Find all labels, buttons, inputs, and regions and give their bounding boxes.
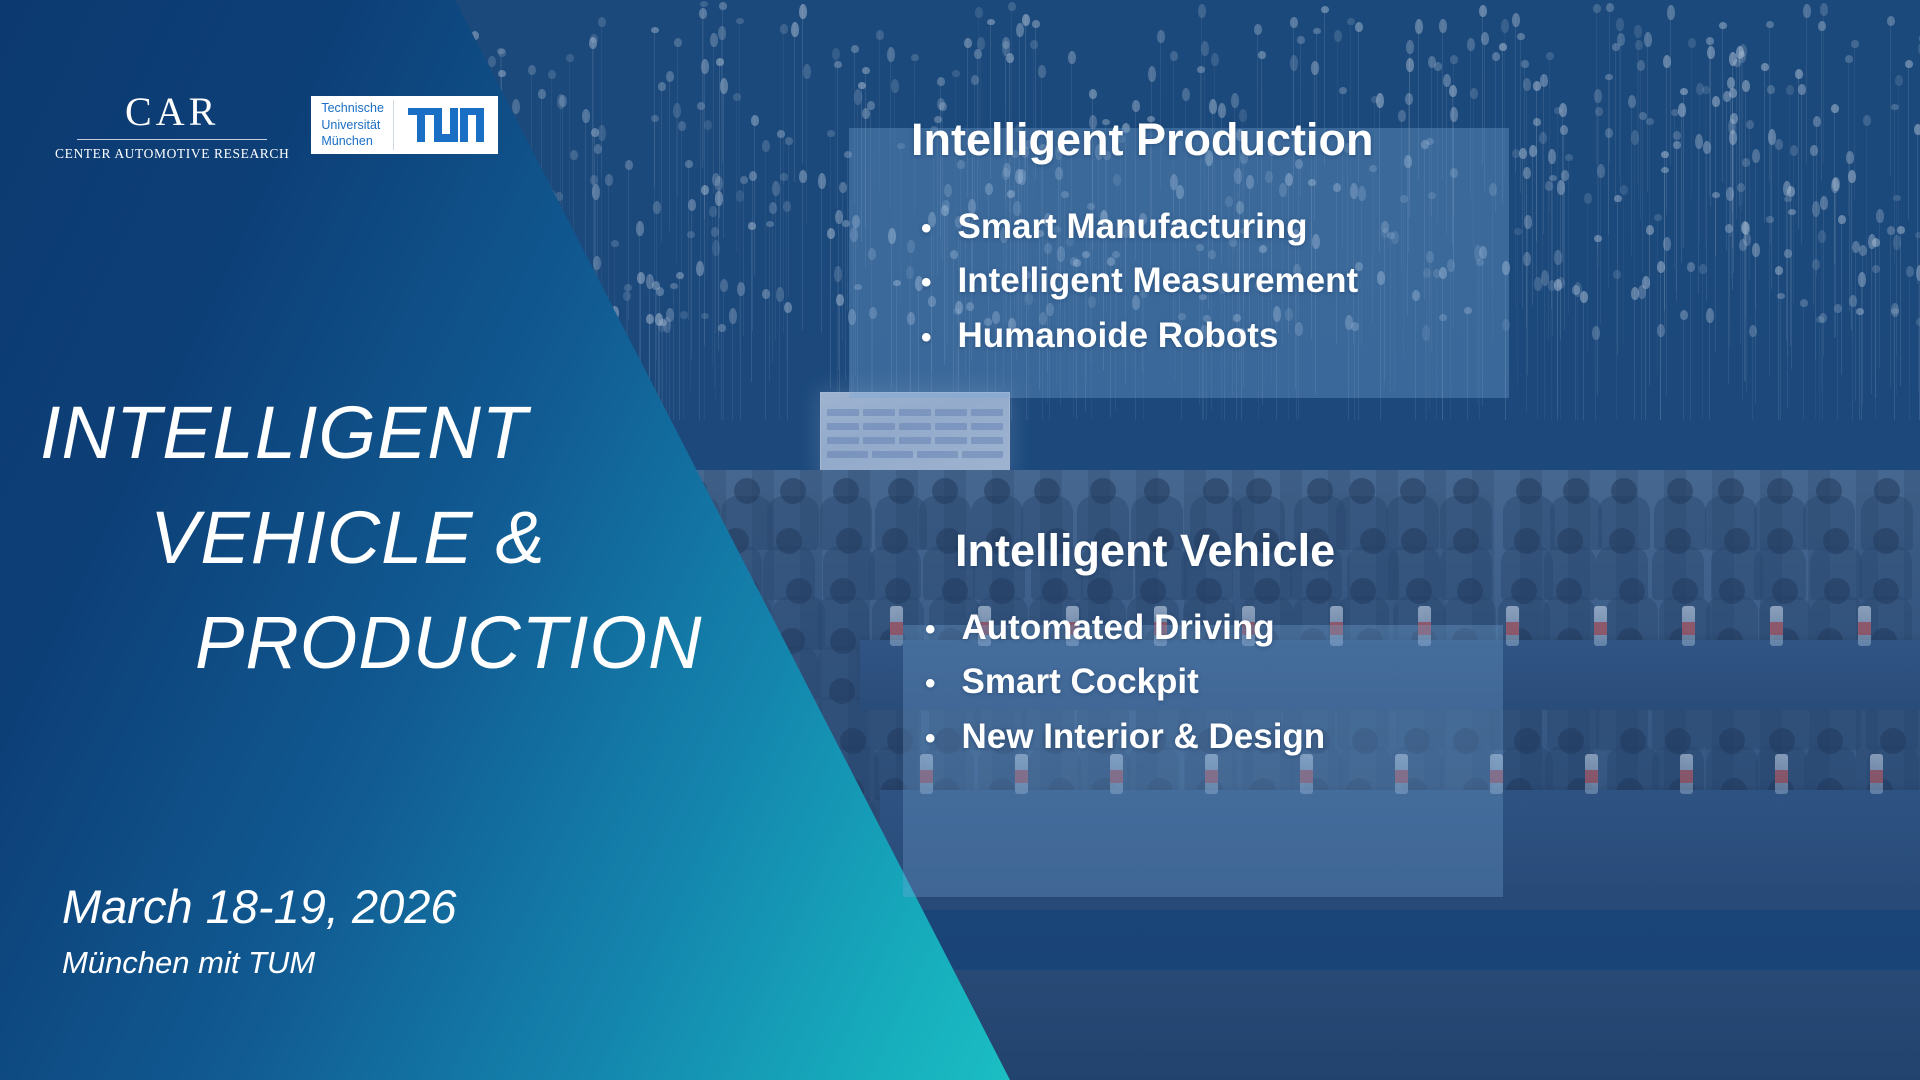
bullet-icon: • — [925, 669, 936, 699]
headline-line-2: VEHICLE & — [0, 485, 760, 590]
list-item-label: Smart Cockpit — [962, 655, 1199, 709]
tum-logo[interactable]: Technische Universität München — [311, 96, 498, 154]
bullet-icon: • — [925, 615, 936, 645]
list-item: •Humanoide Robots — [921, 309, 1358, 363]
tum-logo-text: Technische Universität München — [311, 96, 393, 154]
list-item: •Automated Driving — [925, 601, 1325, 655]
panel-intelligent-production: Intelligent Production •Smart Manufactur… — [849, 128, 1509, 398]
list-item-label: Smart Manufacturing — [958, 200, 1308, 254]
panel-vehicle-title: Intelligent Vehicle — [955, 527, 1335, 574]
list-item: •New Interior & Design — [925, 710, 1325, 764]
list-item-label: Intelligent Measurement — [958, 254, 1359, 308]
bullet-icon: • — [925, 724, 936, 754]
car-logo-divider — [77, 139, 267, 140]
car-logo[interactable]: CAR CENTER AUTOMOTIVE RESEARCH — [55, 88, 289, 162]
event-details: March 18-19, 2026 München mit TUM — [62, 880, 457, 987]
tum-line-3: München — [321, 133, 384, 150]
bullet-icon: • — [921, 268, 932, 298]
bullet-icon: • — [921, 214, 932, 244]
panel-vehicle-bullet-list: •Automated Driving •Smart Cockpit •New I… — [925, 601, 1325, 764]
panel-production-bullet-list: •Smart Manufacturing •Intelligent Measur… — [921, 200, 1358, 363]
list-item-label: Automated Driving — [962, 601, 1275, 655]
tum-wordmark-icon — [394, 96, 498, 154]
bullet-icon: • — [921, 323, 932, 353]
headline-line-1: INTELLIGENT — [0, 380, 760, 485]
list-item-label: Humanoide Robots — [958, 309, 1279, 363]
list-item: •Intelligent Measurement — [921, 254, 1358, 308]
panel-intelligent-vehicle: Intelligent Vehicle •Automated Driving •… — [903, 625, 1503, 897]
headline-line-3: PRODUCTION — [0, 590, 760, 695]
list-item: •Smart Manufacturing — [921, 200, 1358, 254]
page-title: INTELLIGENT VEHICLE & PRODUCTION — [0, 380, 760, 695]
tum-line-2: Universität — [321, 117, 384, 134]
tum-line-1: Technische — [321, 100, 384, 117]
car-logo-tagline: CENTER AUTOMOTIVE RESEARCH — [55, 146, 289, 162]
event-location: München mit TUM — [62, 940, 457, 987]
logo-row: CAR CENTER AUTOMOTIVE RESEARCH Technisch… — [55, 88, 498, 162]
car-wordmark: CAR — [55, 92, 289, 132]
event-date: March 18-19, 2026 — [62, 880, 457, 934]
list-item: •Smart Cockpit — [925, 655, 1325, 709]
list-item-label: New Interior & Design — [962, 710, 1326, 764]
panel-production-title: Intelligent Production — [911, 116, 1373, 163]
